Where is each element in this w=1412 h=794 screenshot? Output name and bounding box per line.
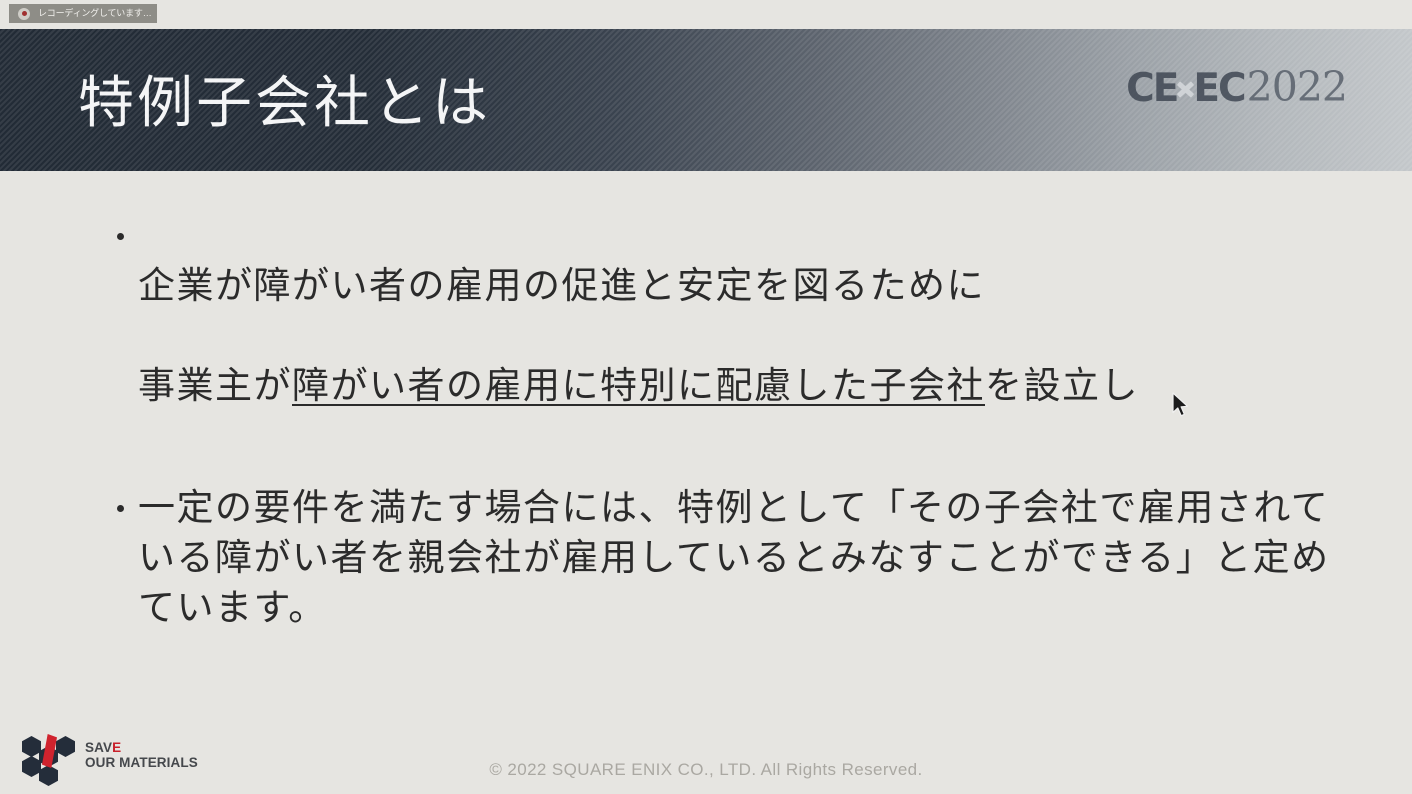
recording-label: レコーディングしています…: [38, 8, 152, 19]
cedec-year: 2022: [1247, 68, 1347, 107]
recording-indicator[interactable]: レコーディングしています…: [9, 4, 157, 23]
bullet-list: 企業が障がい者の雇用の促進と安定を図るために 事業主が障がい者の雇用に特別に配慮…: [0, 211, 1412, 633]
bullet-1-line-1: 企業が障がい者の雇用の促進と安定を図るために: [138, 265, 985, 306]
recording-bar: レコーディングしています…: [0, 0, 1412, 27]
page-title: 特例子会社とは: [78, 73, 491, 133]
presentation-slide: レコーディングしています… 特例子会社とは CE EC 2022 企業が障がい者…: [0, 0, 1412, 794]
bullet-1-line-2-underlined: 障がい者の雇用に特別に配慮した子会社: [292, 365, 985, 406]
bullet-2-text: 一定の要件を満たす場合には、特例として「その子会社で雇用されている障がい者を親会…: [138, 487, 1330, 628]
cedec-logo-part1: CE: [1126, 69, 1177, 108]
bullet-1-line-2-suffix: を設立し: [985, 365, 1139, 406]
copyright-text: © 2022 SQUARE ENIX CO., LTD. All Rights …: [0, 760, 1412, 780]
slide-header-band: 特例子会社とは CE EC 2022: [0, 29, 1412, 171]
bullet-1-line-2-prefix: 事業主が: [138, 365, 292, 406]
som-line-1: SAVE: [85, 740, 198, 755]
cedec-logo-part2: EC: [1193, 69, 1244, 108]
list-item: 一定の要件を満たす場合には、特例として「その子会社で雇用されている障がい者を親会…: [100, 483, 1343, 633]
cedec-logo: CE EC 2022: [1126, 68, 1347, 108]
slide-body: 企業が障がい者の雇用の促進と安定を図るために 事業主が障がい者の雇用に特別に配慮…: [0, 171, 1412, 731]
record-dot-icon: [18, 8, 30, 20]
cedec-wordmark: CE EC: [1126, 69, 1245, 108]
x-mark-icon: [1174, 75, 1196, 103]
list-item: 企業が障がい者の雇用の促進と安定を図るために 事業主が障がい者の雇用に特別に配慮…: [100, 211, 1412, 411]
